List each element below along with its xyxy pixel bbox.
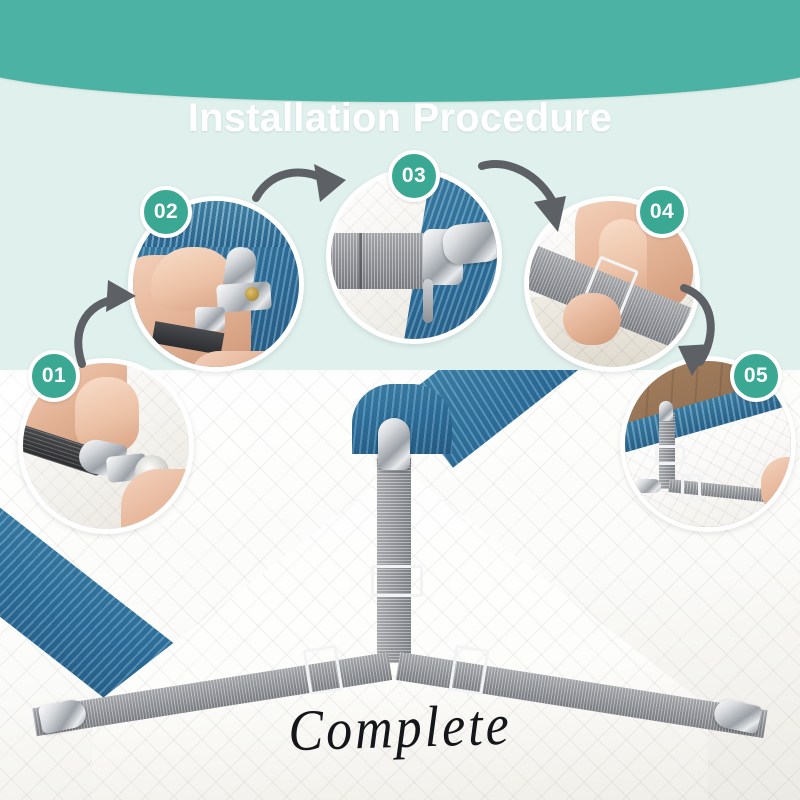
- arrow-03-to-04-icon: [478, 152, 588, 242]
- arrow-02-to-03-icon: [250, 158, 355, 228]
- arrow-01-to-02-icon: [62, 276, 152, 371]
- header-banner: [0, 0, 800, 102]
- slider-buckle-left: [303, 645, 344, 696]
- step-03-badge: 03: [388, 150, 440, 202]
- strap-vertical: [377, 458, 411, 663]
- slider-buckle-vertical: [371, 565, 423, 597]
- clip-apex: [378, 418, 410, 470]
- step-01-badge: 01: [28, 350, 80, 402]
- step-04-badge: 04: [636, 186, 688, 238]
- step-05[interactable]: 05: [620, 356, 796, 532]
- page-title: Installation Procedure: [0, 96, 800, 141]
- infographic-canvas: Installation Procedure: [0, 0, 800, 800]
- slider-buckle-right: [449, 645, 490, 696]
- step-05-badge: 05: [730, 350, 782, 402]
- step-02-badge: 02: [140, 186, 192, 238]
- step-01[interactable]: 01: [18, 358, 194, 534]
